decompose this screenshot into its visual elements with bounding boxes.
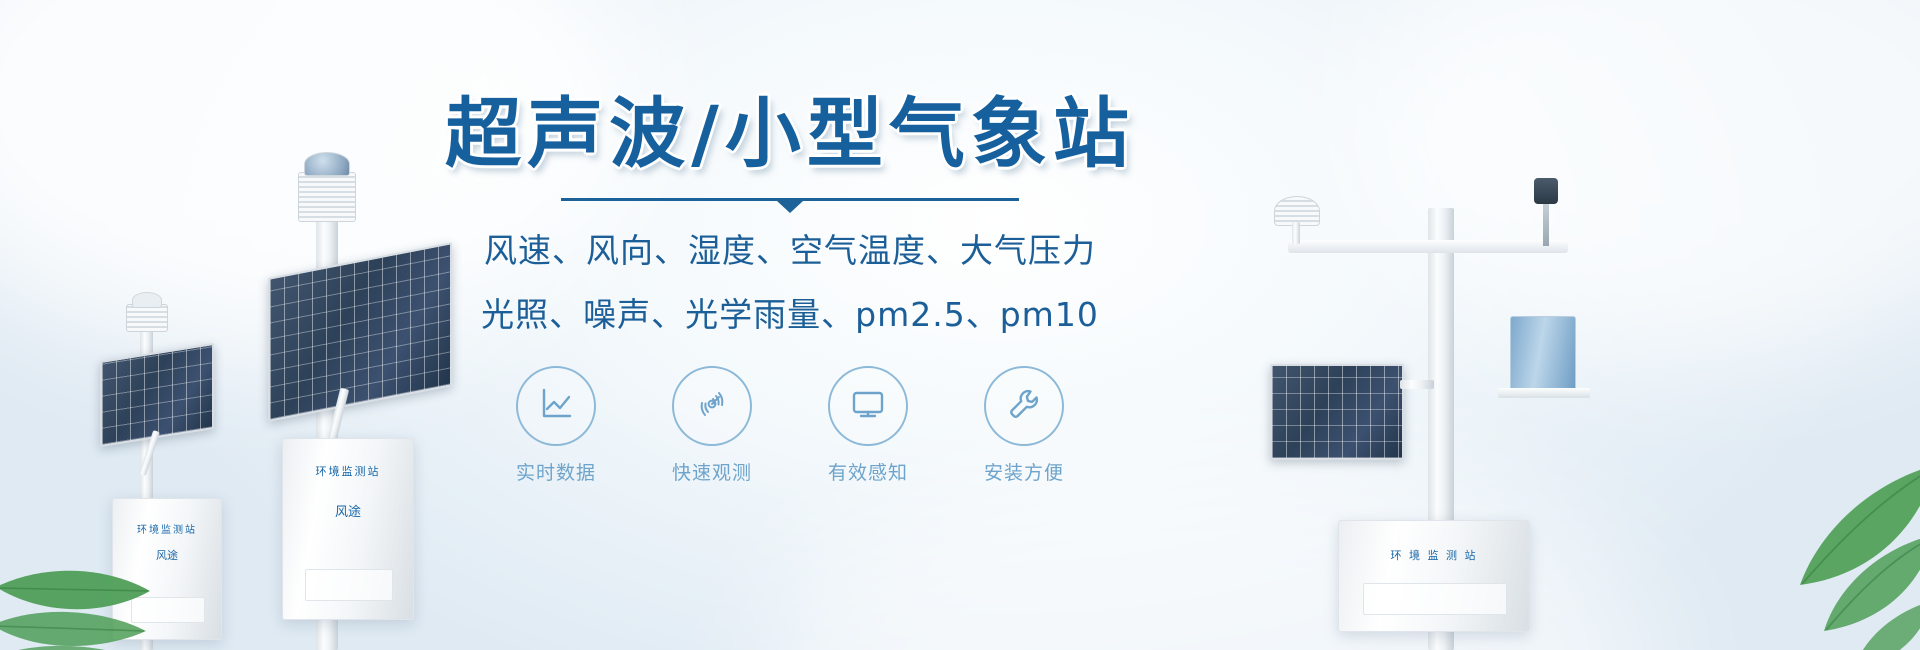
left-station-cabinet-label: 环境监测站 [113, 521, 221, 536]
center-station-cabinet: 环境监测站 风途 [282, 438, 414, 620]
right-station-cabinet-label: 环 境 监 测 站 [1339, 547, 1529, 563]
feature-item-easy-install[interactable]: 安装方便 [969, 366, 1079, 485]
right-station-sensor-stem [1292, 222, 1300, 244]
feature-icon-circle [672, 366, 752, 446]
center-station-sensor-head [298, 172, 356, 222]
feature-label: 实时数据 [501, 458, 611, 485]
wrench-icon [1003, 383, 1045, 430]
right-station-solar-panel [1270, 364, 1404, 460]
monitor-icon [847, 383, 889, 430]
feature-label: 安装方便 [969, 458, 1079, 485]
feature-icon-circle [828, 366, 908, 446]
right-station-cabinet-vent [1363, 583, 1507, 615]
title-divider [561, 198, 1019, 212]
subtitle-line-2: 光照、噪声、光学雨量、pm2.5、pm10 [430, 290, 1150, 340]
right-station-cabinet: 环 境 监 测 站 [1338, 520, 1530, 632]
left-station-brand: 风途 [113, 547, 221, 563]
subtitle-line-1: 风速、风向、湿度、空气温度、大气压力 [430, 226, 1150, 276]
right-station-rain-gauge [1510, 316, 1576, 392]
left-station-cabinet: 环境监测站 风途 [112, 498, 222, 640]
line-chart-icon [535, 383, 577, 430]
center-station-cabinet-vent [305, 569, 393, 601]
product-banner: 环境监测站 风途 环境监测站 风途 环 境 监 测 站 [0, 0, 1920, 650]
center-station-dome-cap [304, 152, 350, 176]
feature-icon-circle [516, 366, 596, 446]
right-station-gauge-shelf [1498, 388, 1590, 398]
feature-label: 有效感知 [813, 458, 923, 485]
left-station-sensor-head [126, 304, 168, 332]
center-station-cabinet-label: 环境监测站 [283, 463, 413, 479]
right-station-panel-arm [1400, 380, 1434, 389]
banner-content: 超声波/小型气象站 风速、风向、湿度、空气温度、大气压力 光照、噪声、光学雨量、… [430, 96, 1150, 485]
page-title: 超声波/小型气象站 [430, 96, 1150, 172]
feature-label: 快速观测 [657, 458, 767, 485]
left-station-sensor-cap [132, 292, 162, 308]
chevron-down-icon [777, 201, 803, 213]
right-weather-station: 环 境 监 测 站 [1260, 130, 1620, 650]
feature-list: 实时数据 快 [430, 366, 1150, 485]
right-station-cross-arm [1288, 240, 1568, 253]
feature-item-realtime-data[interactable]: 实时数据 [501, 366, 611, 485]
right-station-anemometer [1534, 178, 1558, 246]
left-weather-station: 环境监测站 风途 [92, 290, 242, 650]
feature-icon-circle [984, 366, 1064, 446]
left-station-cabinet-vent [131, 597, 205, 623]
decorative-leaf-right [1660, 425, 1920, 650]
center-station-brand: 风途 [283, 501, 413, 520]
feature-item-effective-sensing[interactable]: 有效感知 [813, 366, 923, 485]
radar-scan-icon [691, 383, 733, 430]
center-station-solar-panel [268, 242, 452, 422]
feature-item-fast-observation[interactable]: 快速观测 [657, 366, 767, 485]
